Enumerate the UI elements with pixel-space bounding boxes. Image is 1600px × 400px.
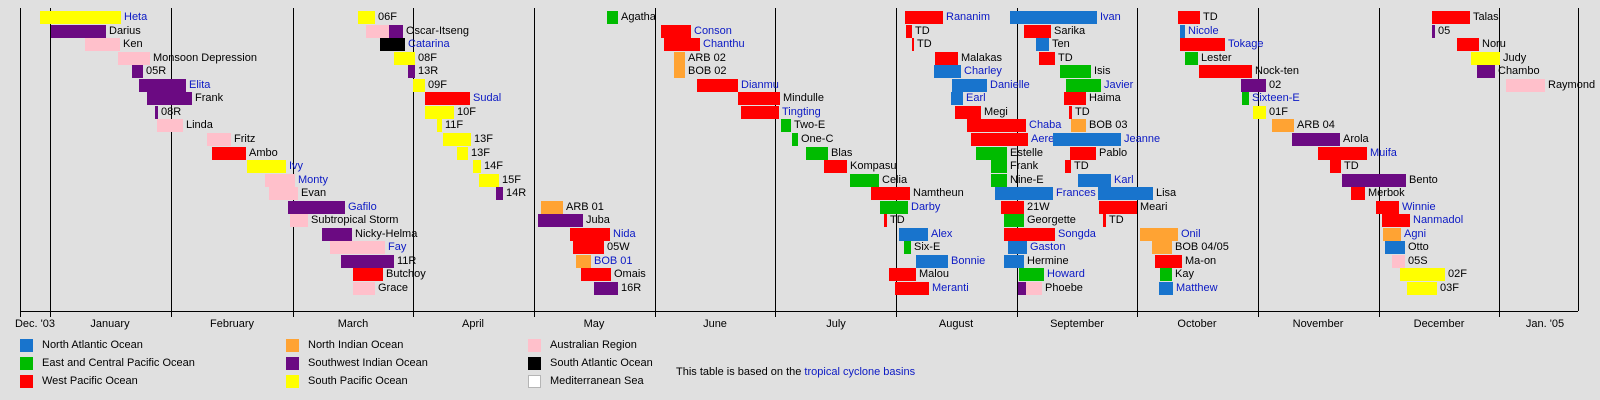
storm-row: BOB 01: [576, 255, 591, 268]
storm-bar-matthew: [1159, 282, 1173, 295]
storm-row: TD: [906, 25, 912, 38]
storm-label: Megi: [981, 106, 1008, 119]
storm-bar-16r: [594, 282, 618, 295]
storm-row: Evan: [269, 187, 298, 200]
storm-bar-danielle: [952, 79, 987, 92]
storm-bar-ivan: [1010, 11, 1097, 24]
storm-row: Ambo: [212, 147, 246, 160]
storm-bar-grace: [353, 282, 375, 295]
storm-row: Noru: [1457, 38, 1479, 51]
storm-bar-td: [1330, 160, 1341, 173]
storm-bar-02f: [1400, 268, 1445, 281]
month-gridline-0: [20, 8, 21, 311]
storm-bar-alex: [899, 228, 928, 241]
storm-row: Javier: [1066, 79, 1101, 92]
storm-row: Kay: [1160, 268, 1172, 281]
storm-label: 13F: [471, 133, 493, 146]
storm-bar-charley: [934, 65, 961, 78]
storm-label[interactable]: Rananim: [943, 11, 990, 24]
x-tick-0: [20, 312, 21, 317]
storm-label: TD: [1072, 106, 1090, 119]
timeline-chart-root: HetaDariusKenMonsoon Depression05RElitaF…: [0, 0, 1600, 400]
storm-label: 14F: [481, 160, 503, 173]
storm-row: 13R: [408, 65, 415, 78]
storm-row: Six-E: [904, 241, 911, 254]
storm-row: Linda: [157, 119, 183, 132]
storm-row: Butchoy: [353, 268, 383, 281]
storm-row: Darby: [880, 201, 908, 214]
x-tick-6: [655, 312, 656, 317]
storm-bar-bob-01: [576, 255, 591, 268]
storm-row: TD: [1039, 52, 1055, 65]
storm-bar-darby: [880, 201, 908, 214]
storm-bar-darius: [51, 25, 106, 38]
storm-label: 13F: [468, 147, 490, 160]
storm-label: 11R: [394, 255, 416, 268]
storm-row: Talas: [1432, 11, 1470, 24]
storm-row: TD: [1178, 11, 1200, 24]
storm-row: Monty: [265, 174, 295, 187]
legend-swatch-north-atlantic: [20, 339, 33, 352]
storm-row: 21W: [1001, 201, 1024, 214]
storm-label: 03F: [1437, 282, 1459, 295]
storm-row: Frank: [991, 160, 1007, 173]
storm-label: Phoebe: [1042, 282, 1083, 295]
storm-row: ARB 01: [541, 201, 563, 214]
storm-row: Howard: [1019, 268, 1044, 281]
storm-label[interactable]: Gaston: [1027, 241, 1065, 254]
storm-label: Estelle: [1007, 147, 1043, 160]
month-label-dec-03: Dec. '03: [15, 318, 55, 330]
storm-label[interactable]: Fay: [385, 241, 406, 254]
storm-label: 08R: [158, 106, 181, 119]
storm-row: Tingting: [741, 106, 779, 119]
storm-bar-ten: [1036, 38, 1049, 51]
storm-row: Songda: [1004, 228, 1055, 241]
storm-label: 05R: [143, 65, 166, 78]
storm-label[interactable]: Chanthu: [700, 38, 745, 51]
storm-label: Nicky-Helma: [352, 228, 417, 241]
storm-row: Grace: [353, 282, 375, 295]
storm-label[interactable]: Nicole: [1185, 25, 1219, 38]
storm-label[interactable]: Songda: [1055, 228, 1096, 241]
storm-bar-jeanne: [1053, 133, 1121, 146]
storm-bar-javier: [1066, 79, 1101, 92]
storm-bar-haima: [1064, 92, 1086, 105]
storm-bar-ivy: [247, 160, 286, 173]
storm-label: TD: [914, 38, 932, 51]
x-tick-13: [1499, 312, 1500, 317]
storm-bar-15f: [479, 174, 499, 187]
storm-bar-agni: [1383, 228, 1401, 241]
storm-bar-ma-on: [1155, 255, 1182, 268]
storm-row: Judy: [1471, 52, 1500, 65]
storm-label: Sarika: [1051, 25, 1085, 38]
storm-label[interactable]: Catarina: [405, 38, 450, 51]
storm-label[interactable]: Ivy: [286, 160, 303, 173]
month-label-june: June: [703, 318, 727, 330]
storm-bar-kompasu: [824, 160, 847, 173]
storm-row: 14R: [496, 187, 503, 200]
storm-bar-six-e: [904, 241, 911, 254]
storm-row: 03F: [1407, 282, 1437, 295]
x-tick-2: [171, 312, 172, 317]
storm-label: TD: [912, 25, 930, 38]
storm-row: Danielle: [952, 79, 987, 92]
storm-row: Chambo: [1477, 65, 1495, 78]
month-gridline-1: [50, 8, 51, 311]
storm-label: Pablo: [1096, 147, 1127, 160]
storm-bar-03f: [1407, 282, 1437, 295]
storm-row: Malakas: [935, 52, 958, 65]
storm-bar-bento: [1342, 174, 1406, 187]
storm-label: Two-E: [791, 119, 825, 132]
storm-bar-frances: [995, 187, 1053, 200]
storm-bar-meari: [1099, 201, 1137, 214]
storm-bar-arb-01: [541, 201, 563, 214]
storm-label[interactable]: Bonnie: [948, 255, 985, 268]
storm-bar-14f: [473, 160, 481, 173]
storm-bar-frank: [147, 92, 192, 105]
storm-row: Chaba: [967, 119, 1026, 132]
storm-row: 11F: [437, 119, 442, 132]
storm-label[interactable]: Aere: [1028, 133, 1054, 146]
x-tick-9: [1017, 312, 1018, 317]
storm-label[interactable]: Chaba: [1026, 119, 1061, 132]
storm-label: BOB 03: [1086, 119, 1128, 132]
month-gridline-14: [1578, 8, 1579, 311]
storm-label[interactable]: Dianmu: [738, 79, 779, 92]
storm-row: Frances: [995, 187, 1053, 200]
month-label-october: October: [1177, 318, 1216, 330]
storm-bar-subtropical-storm: [290, 214, 308, 227]
storm-label[interactable]: Jeanne: [1121, 133, 1160, 146]
storm-bar-13f: [457, 147, 468, 160]
month-gridline-11: [1258, 8, 1259, 311]
storm-row: One-C: [792, 133, 798, 146]
storm-row: Dianmu: [697, 79, 738, 92]
storm-label: TD: [1341, 160, 1359, 173]
storm-label: ARB 04: [1294, 119, 1335, 132]
storm-row: Karl: [1078, 174, 1111, 187]
storm-bar-estelle: [976, 147, 1007, 160]
storm-bar-butchoy: [353, 268, 383, 281]
month-label-august: August: [939, 318, 973, 330]
storm-row: Isis: [1060, 65, 1091, 78]
storm-label: Arola: [1340, 133, 1369, 146]
storm-label[interactable]: Winnie: [1399, 201, 1436, 214]
storm-bar-heta: [40, 11, 121, 24]
storm-row: 05S: [1392, 255, 1405, 268]
storm-bar-two-e: [781, 119, 791, 132]
storm-label: 15F: [499, 174, 521, 187]
storm-label: Meari: [1137, 201, 1168, 214]
storm-row: Muifa: [1318, 147, 1367, 160]
storm-bar-megi: [955, 106, 981, 119]
storm-row: Kompasu: [824, 160, 847, 173]
storm-bar-nicky-helma: [322, 228, 352, 241]
x-tick-12: [1379, 312, 1380, 317]
month-label-january: January: [90, 318, 129, 330]
storm-row: Heta: [40, 11, 121, 24]
storm-label[interactable]: Earl: [963, 92, 986, 105]
storm-row: Nock-ten: [1199, 65, 1252, 78]
storm-bar-malou: [889, 268, 916, 281]
storm-bar-phoebe: [1026, 282, 1042, 295]
month-label-february: February: [210, 318, 254, 330]
storm-label: TD: [1106, 214, 1124, 227]
storm-bar-songda: [1004, 228, 1055, 241]
storm-bar-05r: [132, 65, 143, 78]
storm-row: Nicky-Helma: [322, 228, 352, 241]
legend-swatch-west-pacific: [20, 375, 33, 388]
storm-label[interactable]: Darby: [908, 201, 940, 214]
month-gridline-10: [1137, 8, 1138, 311]
legend-label: South Atlantic Ocean: [550, 354, 653, 372]
storm-label: Haima: [1086, 92, 1121, 105]
storm-label: ARB 01: [563, 201, 604, 214]
storm-row: Catarina: [380, 38, 405, 51]
storm-bar-lester: [1185, 52, 1198, 65]
storm-label[interactable]: Matthew: [1173, 282, 1218, 295]
legend-label: North Indian Ocean: [308, 336, 403, 354]
storm-label: 05: [1435, 25, 1450, 38]
storm-row: Agni: [1383, 228, 1401, 241]
storm-row: Omais: [581, 268, 611, 281]
month-gridline-6: [655, 8, 656, 311]
storm-label[interactable]: Tokage: [1225, 38, 1263, 51]
month-gridline-5: [534, 8, 535, 311]
storm-row: Arola: [1292, 133, 1340, 146]
storm-label[interactable]: Onil: [1178, 228, 1201, 241]
storm-row: Phoebe: [1026, 282, 1042, 295]
storm-label: One-C: [798, 133, 833, 146]
storm-row: Sudal: [425, 92, 470, 105]
storm-bar-sixteen-e: [1242, 92, 1249, 105]
storm-label[interactable]: Javier: [1101, 79, 1133, 92]
storm-label[interactable]: Conson: [691, 25, 732, 38]
storm-label: Frank: [192, 92, 223, 105]
storm-label: Ambo: [246, 147, 278, 160]
storm-row: Blas: [806, 147, 828, 160]
storm-bar-catarina: [380, 38, 405, 51]
storm-label: Nine-E: [1007, 174, 1044, 187]
storm-row: Nida: [570, 228, 610, 241]
storm-row: TD: [1069, 106, 1072, 119]
storm-label: Raymond: [1545, 79, 1595, 92]
storm-row: Chanthu: [664, 38, 700, 51]
storm-row: ARB 04: [1272, 119, 1294, 132]
storm-label: Blas: [828, 147, 852, 160]
storm-label[interactable]: Tingting: [779, 106, 821, 119]
month-label-april: April: [462, 318, 484, 330]
storm-label: Celia: [879, 174, 907, 187]
storm-bar-13f: [443, 133, 471, 146]
storm-label: Lisa: [1153, 187, 1176, 200]
storm-label: TD: [887, 214, 905, 227]
storm-label[interactable]: Frances: [1053, 187, 1096, 200]
storm-bar-arola: [1292, 133, 1340, 146]
footnote-link[interactable]: tropical cyclone basins: [804, 366, 915, 378]
storm-bar-celia: [850, 174, 879, 187]
storm-row: Jeanne: [1053, 133, 1121, 146]
storm-row: Nicole: [1180, 25, 1185, 38]
storm-label: Juba: [583, 214, 610, 227]
storm-row: Mindulle: [738, 92, 780, 105]
storm-label[interactable]: Charley: [961, 65, 1002, 78]
storm-row: [1018, 282, 1026, 295]
storm-label[interactable]: Sixteen-E: [1249, 92, 1300, 105]
footnote: This table is based on the tropical cycl…: [676, 366, 915, 378]
storm-label[interactable]: Nida: [610, 228, 636, 241]
storm-bar-05w: [573, 241, 604, 254]
storm-label: Agatha: [618, 11, 656, 24]
storm-label[interactable]: Heta: [121, 11, 147, 24]
storm-row: 09F: [413, 79, 425, 92]
storm-bar-gafilo: [288, 201, 345, 214]
storm-label[interactable]: Alex: [928, 228, 952, 241]
storm-row: Nine-E: [991, 174, 1007, 187]
storm-row: Rananim: [905, 11, 943, 24]
storm-row: Meari: [1099, 201, 1137, 214]
storm-bar-judy: [1471, 52, 1500, 65]
storm-label: 16R: [618, 282, 641, 295]
storm-label: Evan: [298, 187, 326, 200]
storm-bar-oscar-itseng-b: [389, 25, 403, 38]
storm-row: TD: [1103, 214, 1106, 227]
storm-bar-chaba: [967, 119, 1026, 132]
storm-row: TD: [884, 214, 887, 227]
x-axis-line: [20, 311, 1578, 312]
storm-row: Fay: [330, 241, 385, 254]
storm-bar-phoebe-a: [1018, 282, 1026, 295]
x-tick-7: [775, 312, 776, 317]
storm-bar-09f: [413, 79, 425, 92]
storm-row: Juba: [538, 214, 583, 227]
x-tick-4: [413, 312, 414, 317]
storm-label[interactable]: Nanmadol: [1410, 214, 1463, 227]
storm-label[interactable]: Muifa: [1367, 147, 1397, 160]
storm-label: Lester: [1198, 52, 1232, 65]
storm-row: Conson: [661, 25, 691, 38]
storm-bar-linda: [157, 119, 183, 132]
storm-bar-earl: [951, 92, 963, 105]
storm-row: BOB 02: [674, 65, 685, 78]
storm-bar-chanthu: [664, 38, 700, 51]
storm-label[interactable]: Elita: [186, 79, 210, 92]
legend-label: North Atlantic Ocean: [42, 336, 143, 354]
storm-label[interactable]: Sudal: [470, 92, 501, 105]
storm-label[interactable]: Danielle: [987, 79, 1030, 92]
storm-bar-noru: [1457, 38, 1479, 51]
storm-label[interactable]: Meranti: [929, 282, 969, 295]
storm-row: Fritz: [207, 133, 231, 146]
storm-row: 08F: [394, 52, 415, 65]
storm-row: Namtheun: [871, 187, 910, 200]
storm-label[interactable]: Agni: [1401, 228, 1426, 241]
storm-bar-elita: [139, 79, 186, 92]
storm-bar-aere: [971, 133, 1028, 146]
storm-row: Winnie: [1376, 201, 1399, 214]
storm-row: Agatha: [607, 11, 618, 24]
legend-label: Southwest Indian Ocean: [308, 354, 428, 372]
storm-bar-talas: [1432, 11, 1470, 24]
storm-bar-pablo: [1070, 147, 1096, 160]
storm-bar-chambo: [1477, 65, 1495, 78]
storm-bar-otto: [1385, 241, 1405, 254]
storm-row: 05: [1432, 25, 1435, 38]
storm-row: TD: [912, 38, 914, 51]
storm-bar-conson: [661, 25, 691, 38]
storm-row: [389, 25, 403, 38]
storm-bar-10f: [425, 106, 454, 119]
storm-label: Omais: [611, 268, 646, 281]
storm-label[interactable]: Karl: [1111, 174, 1134, 187]
storm-label: 02F: [1445, 268, 1467, 281]
storm-row: Pablo: [1070, 147, 1096, 160]
storm-bar-monty: [265, 174, 295, 187]
storm-label: 08F: [415, 52, 437, 65]
storm-label[interactable]: Gafilo: [345, 201, 377, 214]
storm-row: 08R: [155, 106, 158, 119]
legend-swatch-east-central-pacific: [20, 357, 33, 370]
storm-bar-georgette: [1004, 214, 1024, 227]
storm-bar-sudal: [425, 92, 470, 105]
storm-row: Earl: [951, 92, 963, 105]
month-label-july: July: [826, 318, 846, 330]
storm-label: 05S: [1405, 255, 1428, 268]
storm-row: Otto: [1385, 241, 1405, 254]
storm-row: 13F: [443, 133, 471, 146]
storm-bar-08f: [394, 52, 415, 65]
legend-label: West Pacific Ocean: [42, 372, 138, 390]
storm-bar-bob-02: [674, 65, 685, 78]
storm-label: 09F: [425, 79, 447, 92]
storm-row: ARB 02: [674, 52, 685, 65]
storm-bar-11r: [341, 255, 394, 268]
storm-row: Megi: [955, 106, 981, 119]
x-tick-1: [50, 312, 51, 317]
storm-bar-nanmadol: [1382, 214, 1410, 227]
storm-label: 14R: [503, 187, 526, 200]
storm-label[interactable]: Monty: [295, 174, 328, 187]
storm-label: Merbok: [1365, 187, 1405, 200]
storm-bar-bonnie: [916, 255, 948, 268]
storm-label[interactable]: BOB 01: [591, 255, 633, 268]
storm-bar-omais: [581, 268, 611, 281]
storm-row: Charley: [934, 65, 961, 78]
month-label-november: November: [1293, 318, 1344, 330]
storm-label: Kay: [1172, 268, 1194, 281]
storm-label: ARB 02: [685, 52, 726, 65]
storm-label: Subtropical Storm: [308, 214, 398, 227]
storm-label: Monsoon Depression: [150, 52, 257, 65]
storm-label: Malou: [916, 268, 949, 281]
storm-label: Kompasu: [847, 160, 896, 173]
storm-label: Isis: [1091, 65, 1111, 78]
storm-row: 05W: [573, 241, 604, 254]
storm-bar-winnie: [1376, 201, 1399, 214]
storm-label: Chambo: [1495, 65, 1540, 78]
storm-bar-monsoon-depression: [118, 52, 150, 65]
storm-bar-gaston: [1008, 241, 1027, 254]
legend-swatch-southwest-indian: [286, 357, 299, 370]
storm-label[interactable]: Howard: [1044, 268, 1085, 281]
storm-row: Monsoon Depression: [118, 52, 150, 65]
storm-row: TD: [1330, 160, 1341, 173]
storm-bar-sarika: [1024, 25, 1051, 38]
storm-label[interactable]: Ivan: [1097, 11, 1121, 24]
